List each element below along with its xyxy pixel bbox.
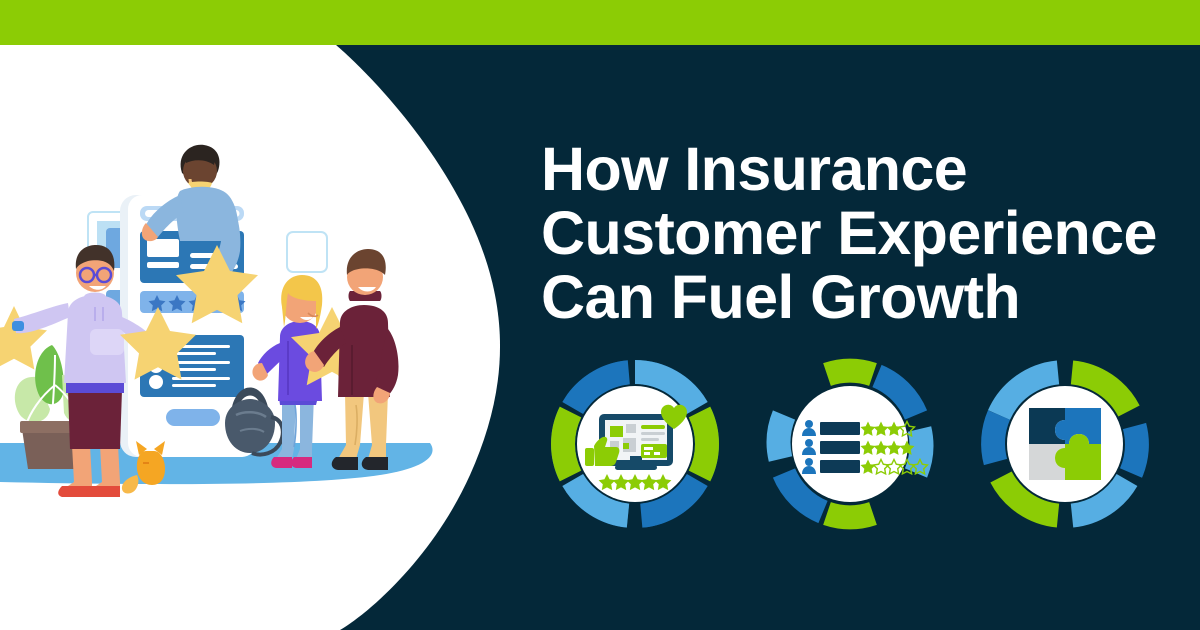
row-bar (820, 441, 860, 454)
top-green-bar (0, 0, 1200, 45)
person-man-maroon-right (305, 249, 398, 470)
page-title: How Insurance Customer Experience Can Fu… (541, 137, 1171, 329)
feature-icon-row (549, 358, 1169, 538)
banner-canvas: How Insurance Customer Experience Can Fu… (0, 0, 1200, 630)
integration-puzzle-icon[interactable] (979, 358, 1151, 530)
decorative-square-outline (287, 232, 327, 272)
title-line-3: Can Fuel Growth (541, 265, 1171, 329)
title-line-2: Customer Experience (541, 201, 1171, 265)
title-line-1: How Insurance (541, 137, 1171, 201)
four-piece-puzzle (1029, 408, 1101, 480)
row-bar (820, 422, 860, 435)
customer-review-illustration (0, 45, 470, 630)
digital-experience-icon[interactable] (549, 358, 721, 530)
customer-ratings-icon[interactable] (764, 358, 936, 530)
row-bar (820, 460, 860, 473)
